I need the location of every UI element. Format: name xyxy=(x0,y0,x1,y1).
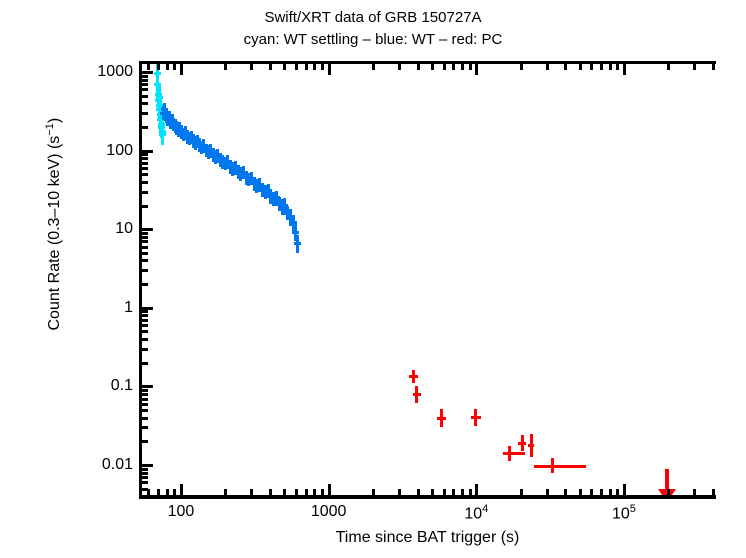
y-tick-3 xyxy=(142,269,148,272)
x-tick-top-200 xyxy=(224,64,227,70)
x-tick-label-100000: 105 xyxy=(612,503,636,523)
y-tick-7 xyxy=(142,240,148,243)
x-tick-900 xyxy=(321,489,324,495)
x-axis-spine xyxy=(139,495,716,499)
y-tick-0.03 xyxy=(142,426,148,429)
x-tick-top-40000 xyxy=(564,64,567,70)
y-tick-0.08 xyxy=(142,393,148,396)
x-tick-200000 xyxy=(667,489,670,495)
x-tick-label-10000: 104 xyxy=(464,503,488,523)
y-tick-0.06 xyxy=(142,403,148,406)
upper-limit-arrow-shaft xyxy=(665,469,669,490)
y-tick-0.04 xyxy=(142,417,148,420)
x-tick-top-90 xyxy=(173,64,176,70)
x-tick-top-400000 xyxy=(712,64,715,70)
y-tick-0.004 xyxy=(142,495,148,498)
data-errorbar-x-PC xyxy=(413,393,422,396)
x-tick-top-70000 xyxy=(600,64,603,70)
data-errorbar-x-PC xyxy=(503,452,525,455)
x-tick-top-600 xyxy=(295,64,298,70)
data-errorbar-x-PC xyxy=(518,442,526,445)
x-tick-90000 xyxy=(616,489,619,495)
xrt-lightcurve-figure: Swift/XRT data of GRB 150727A cyan: WT s… xyxy=(0,0,746,558)
x-tick-3000 xyxy=(398,489,401,495)
chart-subtitle-legend: cyan: WT settling – blue: WT – red: PC xyxy=(0,31,746,48)
x-tick-top-1000 xyxy=(328,64,331,75)
y-tick-800 xyxy=(142,79,148,82)
y-tick-500 xyxy=(142,95,148,98)
x-tick-400000 xyxy=(712,489,715,495)
x-tick-top-800 xyxy=(313,64,316,70)
y-tick-4 xyxy=(142,259,148,262)
x-tick-top-3000 xyxy=(398,64,401,70)
y-tick-2 xyxy=(142,283,148,286)
x-tick-top-60 xyxy=(147,64,150,70)
x-tick-top-8000 xyxy=(461,64,464,70)
y-tick-200 xyxy=(142,126,148,129)
y-tick-1000 xyxy=(142,71,153,74)
y-tick-10 xyxy=(142,228,153,231)
x-tick-top-300000 xyxy=(693,64,696,70)
x-tick-top-7000 xyxy=(452,64,455,70)
x-tick-top-80000 xyxy=(609,64,612,70)
y-tick-600 xyxy=(142,88,148,91)
x-tick-top-700 xyxy=(305,64,308,70)
y-tick-30 xyxy=(142,191,148,194)
y-tick-60 xyxy=(142,167,148,170)
y-tick-80 xyxy=(142,157,148,160)
y-tick-8 xyxy=(142,236,148,239)
y-tick-label-0.1: 0.1 xyxy=(111,377,133,395)
y-tick-0.008 xyxy=(142,472,148,475)
x-tick-top-200000 xyxy=(667,64,670,70)
x-tick-10000 xyxy=(475,484,478,495)
x-tick-40000 xyxy=(564,489,567,495)
x-tick-90 xyxy=(173,489,176,495)
x-tick-top-50000 xyxy=(579,64,582,70)
data-errorbar-x-PC xyxy=(471,416,481,419)
x-tick-500 xyxy=(283,489,286,495)
x-tick-top-60000 xyxy=(590,64,593,70)
y-tick-6 xyxy=(142,246,148,249)
y-tick-0.01 xyxy=(142,464,153,467)
x-axis-title: Time since BAT trigger (s) xyxy=(139,529,716,547)
y-tick-70 xyxy=(142,162,148,165)
x-tick-50000 xyxy=(579,489,582,495)
x-tick-6000 xyxy=(443,489,446,495)
y-tick-0.2 xyxy=(142,362,148,365)
y-tick-0.8 xyxy=(142,314,148,317)
y-tick-5 xyxy=(142,252,148,255)
y-tick-0.02 xyxy=(142,440,148,443)
y-tick-0.09 xyxy=(142,389,148,392)
x-tick-80000 xyxy=(609,489,612,495)
x-tick-8000 xyxy=(461,489,464,495)
x-tick-100 xyxy=(180,484,183,495)
y-tick-0.05 xyxy=(142,409,148,412)
y-tick-label-1: 1 xyxy=(124,299,133,317)
x-tick-top-300 xyxy=(250,64,253,70)
x-tick-top-20000 xyxy=(520,64,523,70)
y-tick-100 xyxy=(142,150,153,153)
y-tick-0.30000000000000004 xyxy=(142,348,148,351)
y-tick-20 xyxy=(142,205,148,208)
x-tick-top-100000 xyxy=(623,64,626,75)
x-tick-80 xyxy=(166,489,169,495)
y-tick-0.009000000000000001 xyxy=(142,468,148,471)
x-tick-20000 xyxy=(520,489,523,495)
y-tick-400 xyxy=(142,102,148,105)
data-errorbar-x-PC xyxy=(534,465,586,468)
data-marker-WT-settling xyxy=(159,133,166,136)
y-tick-0.7000000000000001 xyxy=(142,319,148,322)
x-tick-200 xyxy=(224,489,227,495)
plot-data-area xyxy=(139,61,716,498)
x-tick-4000 xyxy=(417,489,420,495)
y-tick-50 xyxy=(142,173,148,176)
x-tick-top-100 xyxy=(180,64,183,75)
x-tick-label-1000: 1000 xyxy=(311,503,347,521)
x-tick-top-70 xyxy=(157,64,160,70)
y-tick-0.006 xyxy=(142,481,148,484)
y-tick-90 xyxy=(142,153,148,156)
x-tick-top-80 xyxy=(166,64,169,70)
y-tick-700 xyxy=(142,83,148,86)
x-tick-1000 xyxy=(328,484,331,495)
x-tick-top-4000 xyxy=(417,64,420,70)
y-tick-0.9 xyxy=(142,310,148,313)
y-tick-label-0.01: 0.01 xyxy=(102,456,133,474)
data-errorbar-x-PC xyxy=(528,444,534,447)
x-tick-7000 xyxy=(452,489,455,495)
x-tick-top-9000 xyxy=(469,64,472,70)
x-tick-top-900 xyxy=(321,64,324,70)
x-tick-9000 xyxy=(469,489,472,495)
y-tick-9 xyxy=(142,232,148,235)
y-tick-1 xyxy=(142,307,153,310)
y-tick-label-10: 10 xyxy=(115,220,133,238)
x-tick-top-30000 xyxy=(546,64,549,70)
x-tick-400 xyxy=(269,489,272,495)
y-tick-0.5 xyxy=(142,330,148,333)
x-tick-300000 xyxy=(693,489,696,495)
x-tick-top-400 xyxy=(269,64,272,70)
x-axis-tick-labels: 1001000104105 xyxy=(139,503,716,529)
plot-frame xyxy=(139,61,716,498)
x-tick-60000 xyxy=(590,489,593,495)
data-errorbar-x-PC xyxy=(409,375,418,378)
x-tick-100000 xyxy=(623,484,626,495)
y-tick-900 xyxy=(142,75,148,78)
data-marker-WT xyxy=(294,242,301,245)
x-tick-600 xyxy=(295,489,298,495)
x-tick-top-6000 xyxy=(443,64,446,70)
chart-title: Swift/XRT data of GRB 150727A xyxy=(0,9,746,26)
y-tick-0.4 xyxy=(142,338,148,341)
x-tick-top-500 xyxy=(283,64,286,70)
x-tick-30000 xyxy=(546,489,549,495)
y-tick-300 xyxy=(142,112,148,115)
y-tick-40 xyxy=(142,181,148,184)
x-tick-top-2000 xyxy=(372,64,375,70)
x-tick-700 xyxy=(305,489,308,495)
data-errorbar-x-PC xyxy=(437,417,446,420)
x-tick-label-100: 100 xyxy=(168,503,195,521)
y-tick-label-1000: 1000 xyxy=(97,63,133,81)
y-tick-0.07 xyxy=(142,398,148,401)
y-axis-tick-labels: 10001001010.10.01 xyxy=(40,61,133,498)
x-tick-800 xyxy=(313,489,316,495)
y-tick-0.005 xyxy=(142,488,148,491)
y-tick-label-100: 100 xyxy=(106,142,133,160)
x-tick-70 xyxy=(157,489,160,495)
x-tick-top-90000 xyxy=(616,64,619,70)
y-tick-0.6000000000000001 xyxy=(142,324,148,327)
x-tick-300 xyxy=(250,489,253,495)
y-tick-0.007 xyxy=(142,476,148,479)
x-tick-2000 xyxy=(372,489,375,495)
x-tick-5000 xyxy=(431,489,434,495)
x-tick-top-5000 xyxy=(431,64,434,70)
x-tick-top-10000 xyxy=(475,64,478,75)
y-tick-0.1 xyxy=(142,385,153,388)
x-tick-70000 xyxy=(600,489,603,495)
